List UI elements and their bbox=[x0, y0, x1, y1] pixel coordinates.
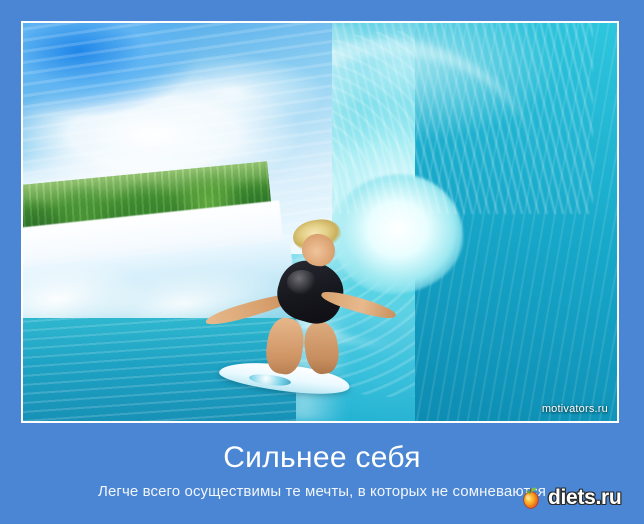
diets-ru-logo[interactable]: diets.ru bbox=[516, 482, 621, 514]
photo-watermark: motivators.ru bbox=[542, 403, 608, 415]
surf-photo: motivators.ru bbox=[23, 23, 617, 421]
apple-icon bbox=[516, 483, 546, 513]
wetsuit-highlight bbox=[287, 270, 317, 294]
surfer bbox=[23, 23, 617, 421]
photo-frame: motivators.ru bbox=[21, 21, 619, 423]
logo-text: diets.ru bbox=[548, 486, 621, 510]
poster-title: Сильнее себя bbox=[0, 427, 644, 474]
motivational-poster: motivators.ru Сильнее себя Легче всего о… bbox=[0, 0, 644, 524]
surfer-back-leg bbox=[302, 319, 342, 375]
